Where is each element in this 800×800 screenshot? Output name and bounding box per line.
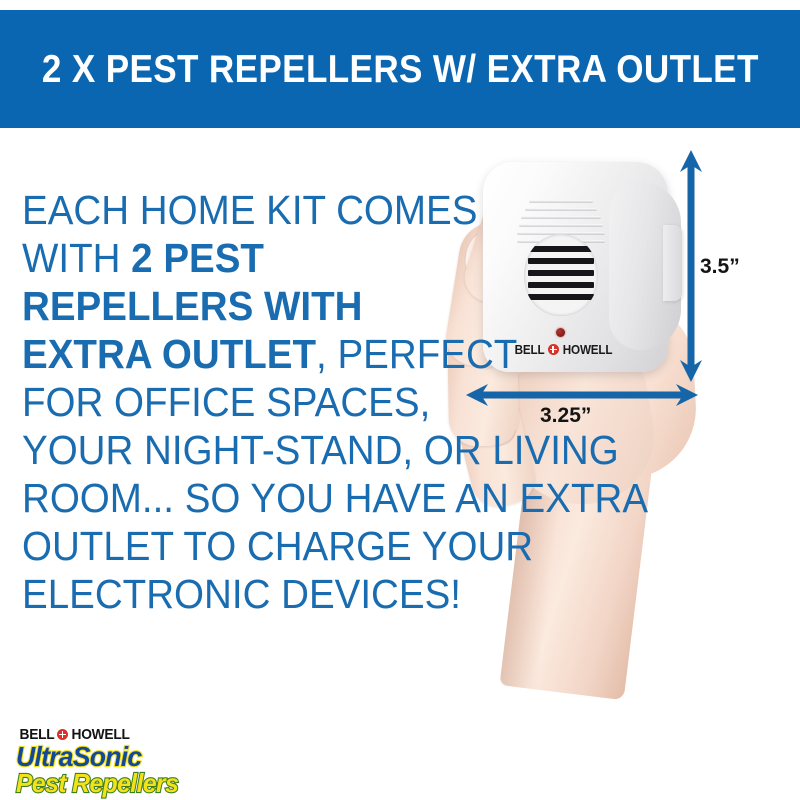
- copy-line-bold: EXTRA OUTLET: [22, 331, 316, 377]
- copy-line-plain: YOUR NIGHT-STAND, OR LIVING: [22, 427, 619, 473]
- copy-line: YOUR NIGHT-STAND, OR LIVING: [22, 426, 548, 474]
- footer-logo-ultrasonic: UltraSonic: [16, 744, 216, 770]
- copy-line-bold: 2 PEST: [131, 235, 264, 281]
- copy-line: ROOM... SO YOU HAVE AN EXTRA: [22, 474, 548, 522]
- header-banner: 2 X PEST REPELLERS W/ EXTRA OUTLET: [0, 10, 800, 128]
- copy-line-plain: EACH HOME KIT COMES: [22, 187, 477, 233]
- copy-line: ELECTRONIC DEVICES!: [22, 570, 548, 618]
- footer-logo-pest-repellers: Pest Repellers: [16, 770, 216, 796]
- copy-line: REPELLERS WITH: [22, 282, 548, 330]
- copy-line-plain: WITH: [22, 235, 131, 281]
- width-arrow-icon: [466, 384, 698, 406]
- copy-line-plain: ELECTRONIC DEVICES!: [22, 571, 461, 617]
- height-arrow-icon: [680, 150, 702, 382]
- height-dimension-label: 3.5”: [700, 255, 740, 279]
- footer-brand-logo: BELL HOWELL UltraSonic Pest Repellers: [16, 726, 226, 796]
- width-dimension-label: 3.25”: [540, 404, 591, 428]
- copy-line-bold: REPELLERS WITH: [22, 283, 362, 329]
- bell-howell-emblem-icon: [57, 729, 68, 740]
- header-title: 2 X PEST REPELLERS W/ EXTRA OUTLET: [42, 50, 759, 89]
- copy-line-plain: , PERFECT: [316, 331, 517, 377]
- copy-line-plain: OUTLET TO CHARGE YOUR: [22, 523, 533, 569]
- copy-line-plain: ROOM... SO YOU HAVE AN EXTRA: [22, 475, 648, 521]
- width-dimension-arrow: [466, 384, 698, 406]
- copy-line: WITH 2 PEST: [22, 234, 548, 282]
- copy-line: OUTLET TO CHARGE YOUR: [22, 522, 548, 570]
- height-dimension-arrow: [680, 150, 702, 382]
- copy-line: EACH HOME KIT COMES: [22, 186, 548, 234]
- copy-line-plain: FOR OFFICE SPACES,: [22, 379, 430, 425]
- copy-line: EXTRA OUTLET, PERFECT: [22, 330, 548, 378]
- product-infographic-canvas: 2 X PEST REPELLERS W/ EXTRA OUTLET EACH …: [0, 0, 800, 800]
